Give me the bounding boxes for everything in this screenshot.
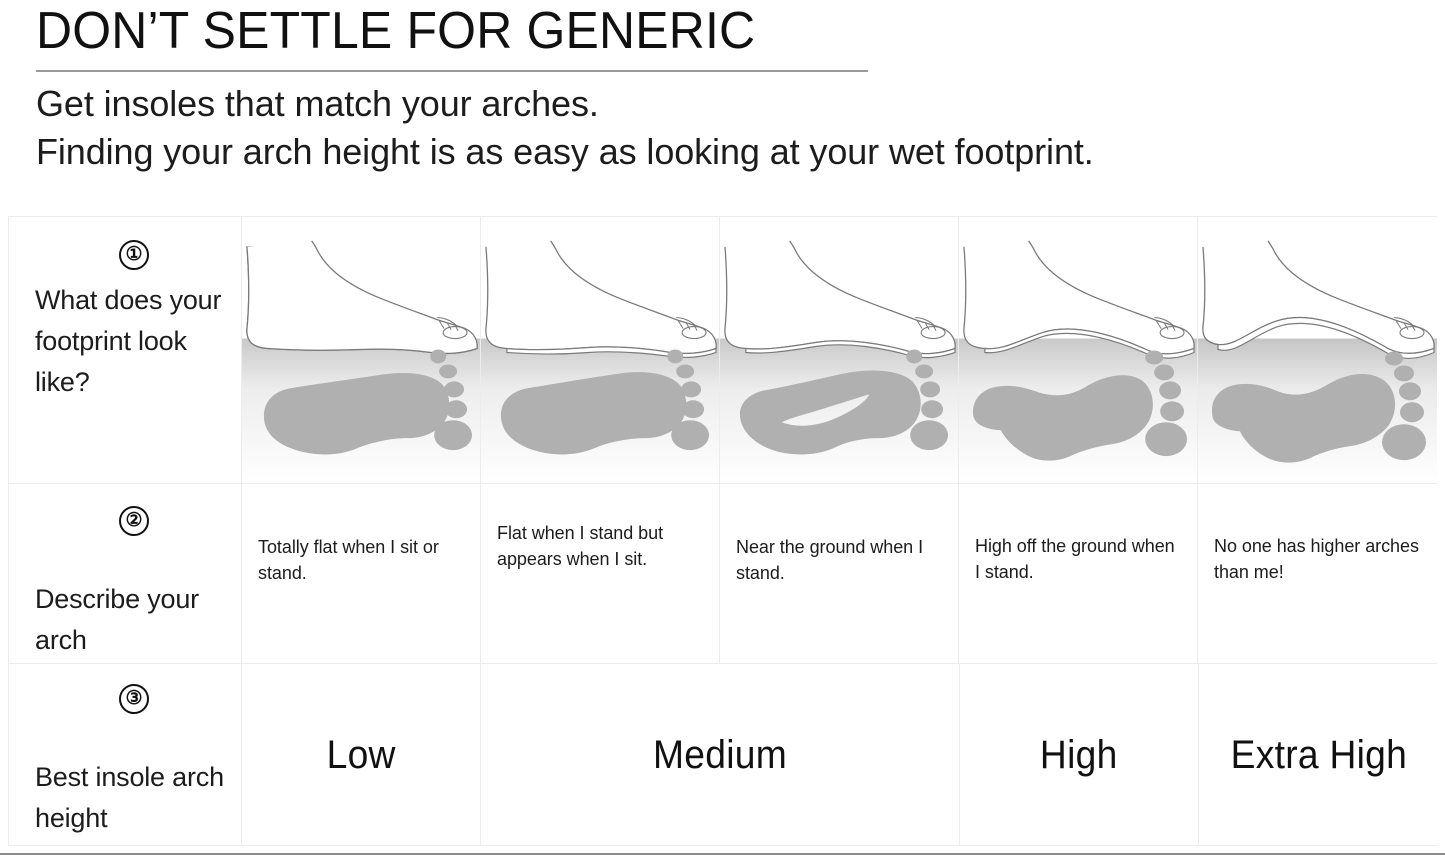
insole-arch-label: Low	[326, 733, 395, 777]
insole-cell-extra-high: Extra High	[1199, 664, 1438, 845]
footprint-column-medium	[720, 217, 959, 483]
insole-cell-medium: Medium	[481, 664, 960, 845]
describe-text: High off the ground when I stand.	[975, 533, 1183, 585]
describe-text: Totally flat when I sit or stand.	[258, 534, 466, 586]
footprint-column-extra-high	[1198, 217, 1437, 483]
describe-text: Flat when I stand but appears when I sit…	[497, 520, 705, 572]
footprint-high-icon	[959, 217, 1197, 483]
footprint-extra-high-icon	[1198, 217, 1437, 483]
footprint-low-icon	[481, 217, 719, 483]
insole-arch-label: Medium	[653, 733, 787, 777]
describe-text: Near the ground when I stand.	[736, 534, 944, 586]
footprint-flat-icon	[242, 217, 480, 483]
table-row-insole: ③ Best insole arch height Low Medium Hig…	[9, 664, 1437, 846]
insole-arch-label: Extra High	[1230, 733, 1406, 777]
title-divider	[36, 70, 868, 72]
row-label-describe: ② Describe your arch	[9, 484, 242, 663]
describe-cell-extra-high: No one has higher arches than me!	[1198, 484, 1437, 663]
subtitle-line-1: Get insoles that match your arches.	[36, 80, 1445, 128]
step-number-1: ①	[119, 240, 149, 270]
insole-arch-label: High	[1040, 733, 1118, 777]
row-label-text: Describe your arch	[35, 579, 233, 661]
footer-divider	[0, 853, 1445, 855]
insole-cell-low: Low	[242, 664, 481, 845]
describe-cell-medium: Near the ground when I stand.	[720, 484, 959, 663]
row-label-insole: ③ Best insole arch height	[9, 664, 242, 845]
describe-cell-high: High off the ground when I stand.	[959, 484, 1198, 663]
table-row-footprint: ① What does your footprint look like?	[9, 217, 1437, 484]
page-title: DON’T SETTLE FOR GENERIC	[36, 0, 1389, 60]
footprint-column-high	[959, 217, 1198, 483]
row-label-text: What does your footprint look like?	[35, 280, 233, 403]
footprint-medium-icon	[720, 217, 958, 483]
header: DON’T SETTLE FOR GENERIC Get insoles tha…	[0, 0, 1445, 176]
table-row-describe: ② Describe your arch Totally flat when I…	[9, 484, 1437, 664]
describe-cell-low: Flat when I stand but appears when I sit…	[481, 484, 720, 663]
describe-text: No one has higher arches than me!	[1214, 533, 1423, 585]
arch-height-infographic: DON’T SETTLE FOR GENERIC Get insoles tha…	[0, 0, 1445, 867]
footprint-column-flat	[242, 217, 481, 483]
arch-comparison-table: ① What does your footprint look like?	[8, 216, 1437, 846]
row-label-footprint: ① What does your footprint look like?	[9, 217, 242, 483]
step-number-2: ②	[119, 506, 149, 536]
step-number-3: ③	[119, 684, 149, 714]
insole-cell-high: High	[960, 664, 1199, 845]
row-label-text: Best insole arch height	[35, 757, 233, 839]
footprint-column-low	[481, 217, 720, 483]
subtitle-line-2: Finding your arch height is as easy as l…	[36, 128, 1445, 176]
describe-cell-flat: Totally flat when I sit or stand.	[242, 484, 481, 663]
